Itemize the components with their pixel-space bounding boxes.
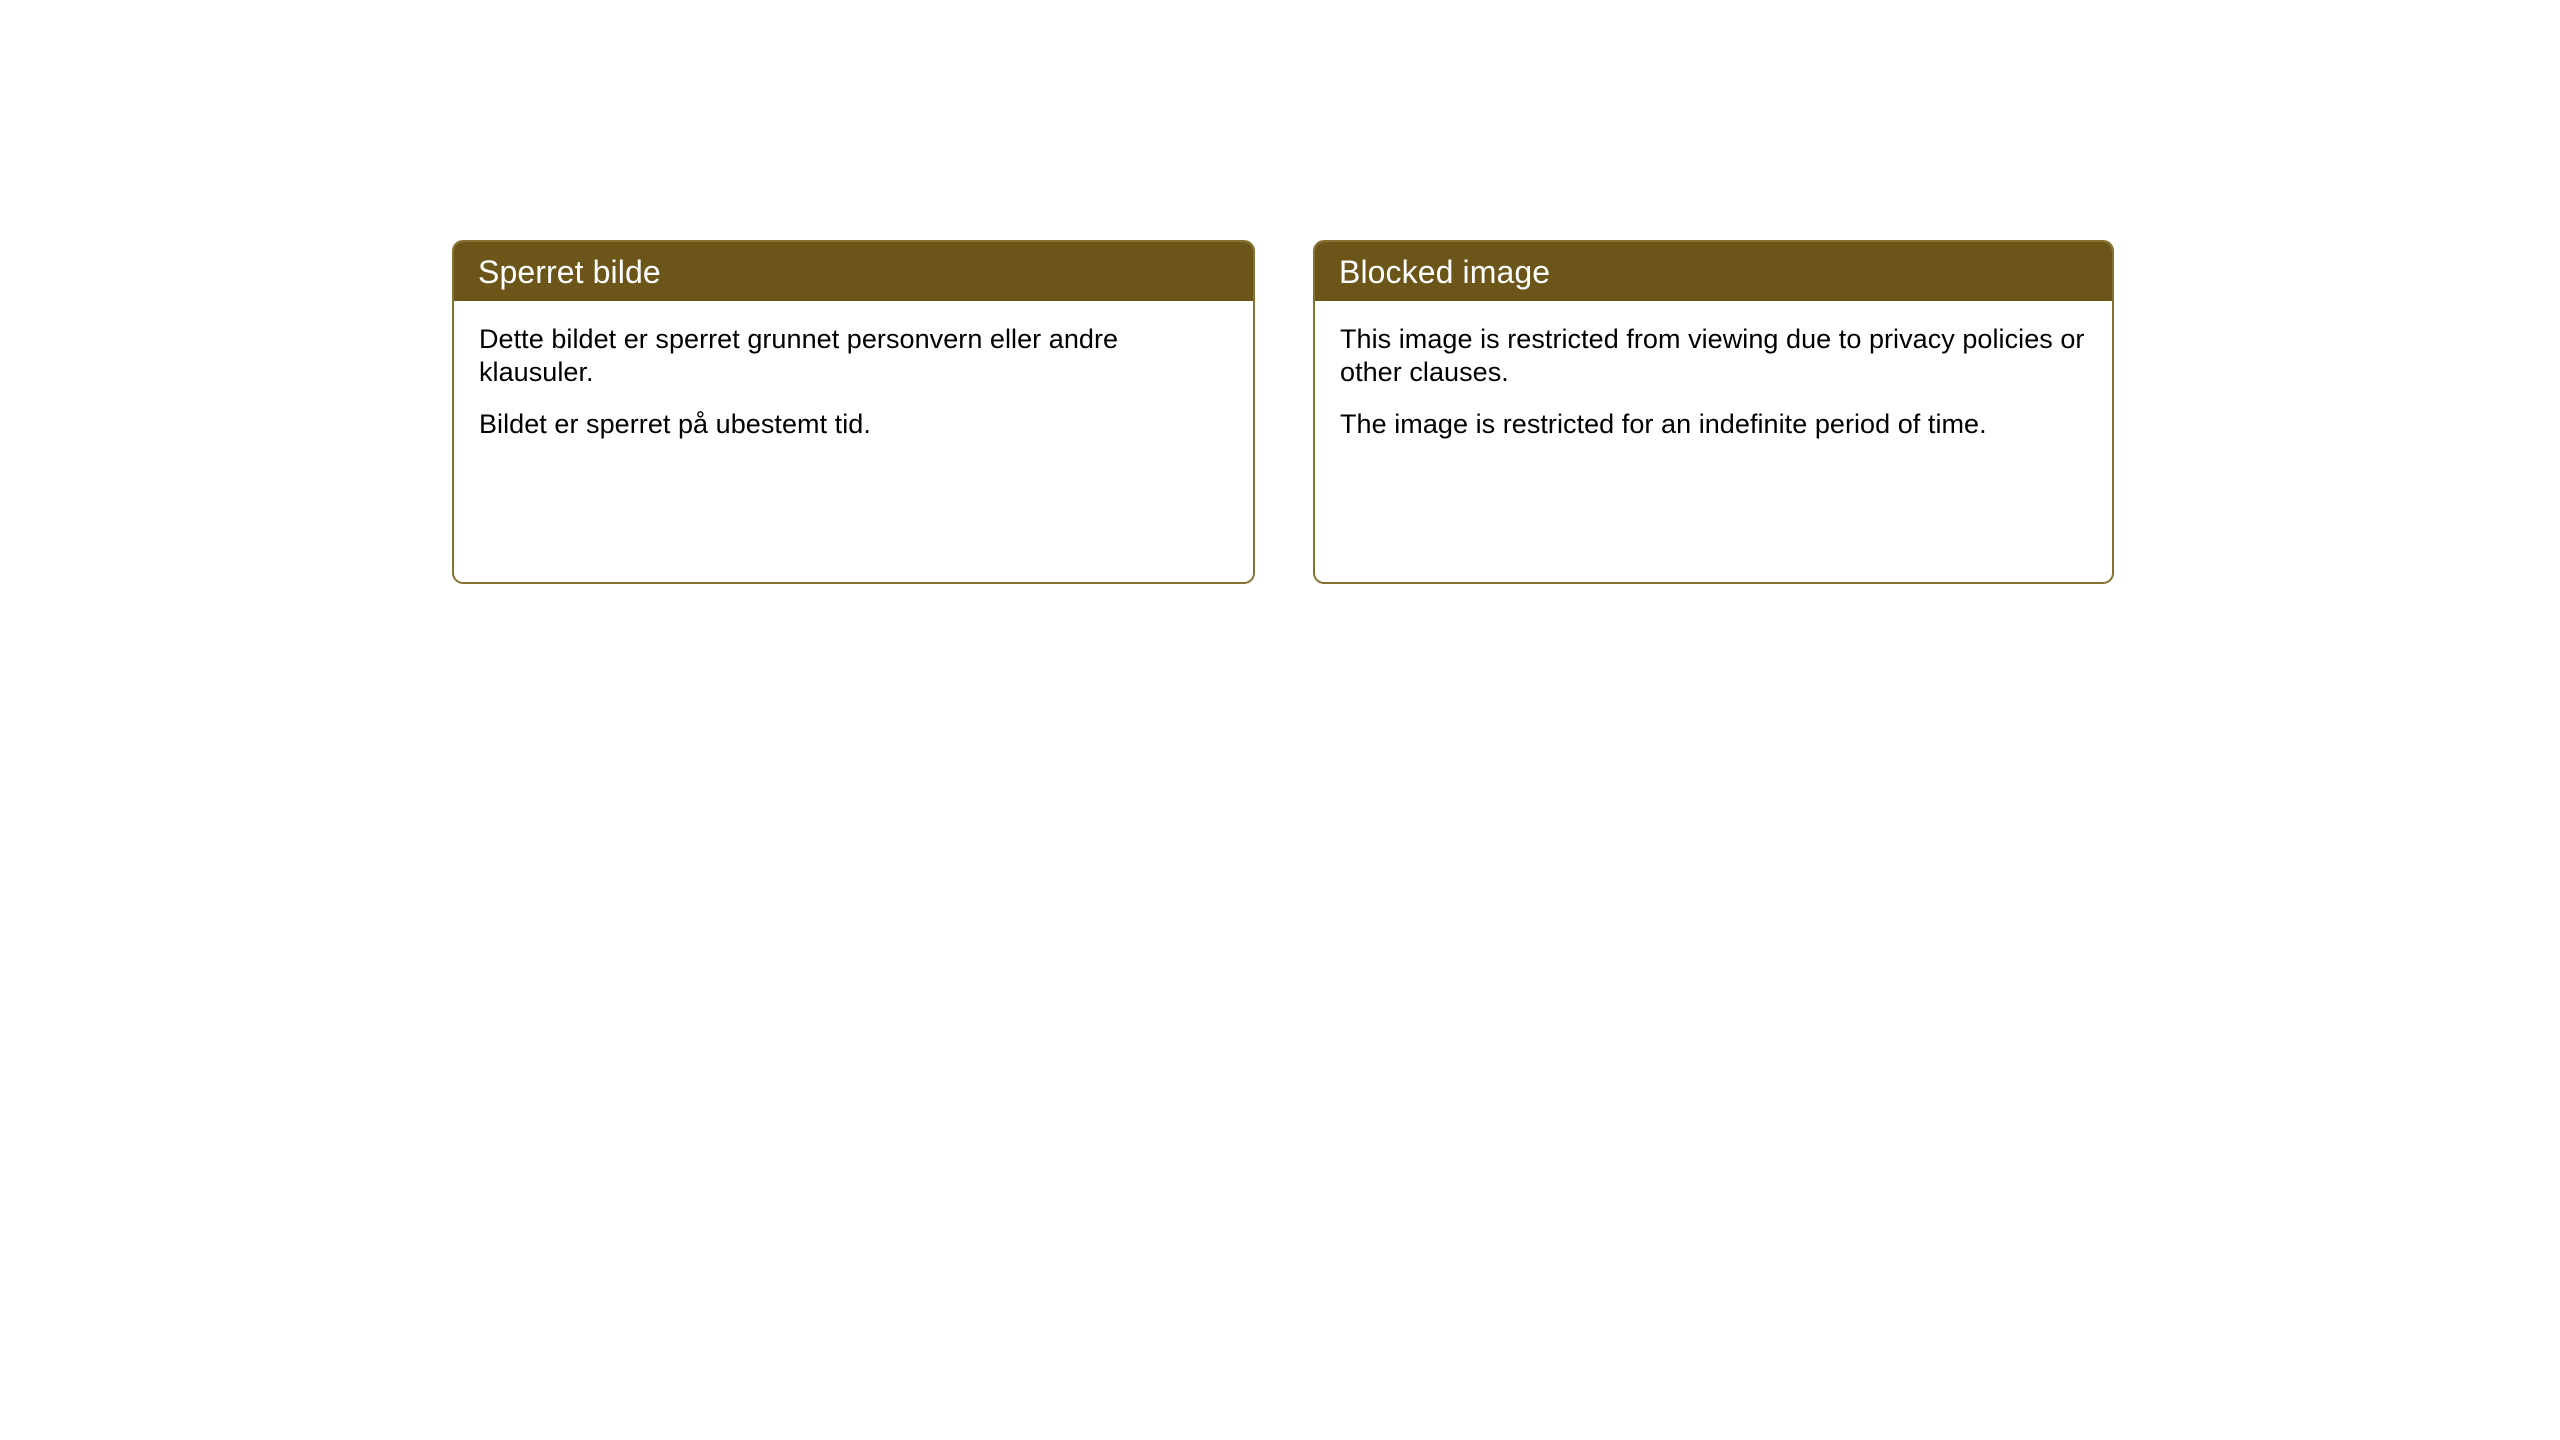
blocked-image-notice-card-no: Sperret bilde Dette bildet er sperret gr… bbox=[452, 240, 1255, 584]
card-paragraph-primary-no: Dette bildet er sperret grunnet personve… bbox=[479, 323, 1227, 389]
paragraph-spacer-en bbox=[1340, 389, 2086, 408]
page-canvas: Sperret bilde Dette bildet er sperret gr… bbox=[0, 0, 2560, 1440]
card-paragraph-primary-en: This image is restricted from viewing du… bbox=[1340, 323, 2086, 389]
card-paragraph-secondary-en: The image is restricted for an indefinit… bbox=[1340, 408, 2086, 441]
card-title-en: Blocked image bbox=[1339, 256, 1550, 288]
blocked-image-notice-card-en: Blocked image This image is restricted f… bbox=[1313, 240, 2114, 584]
card-body-no: Dette bildet er sperret grunnet personve… bbox=[454, 301, 1253, 441]
card-body-en: This image is restricted from viewing du… bbox=[1315, 301, 2112, 441]
card-paragraph-secondary-no: Bildet er sperret på ubestemt tid. bbox=[479, 408, 1227, 441]
paragraph-spacer-no bbox=[479, 389, 1227, 408]
card-header-en: Blocked image bbox=[1315, 242, 2112, 301]
card-title-no: Sperret bilde bbox=[478, 256, 661, 288]
card-header-no: Sperret bilde bbox=[454, 242, 1253, 301]
